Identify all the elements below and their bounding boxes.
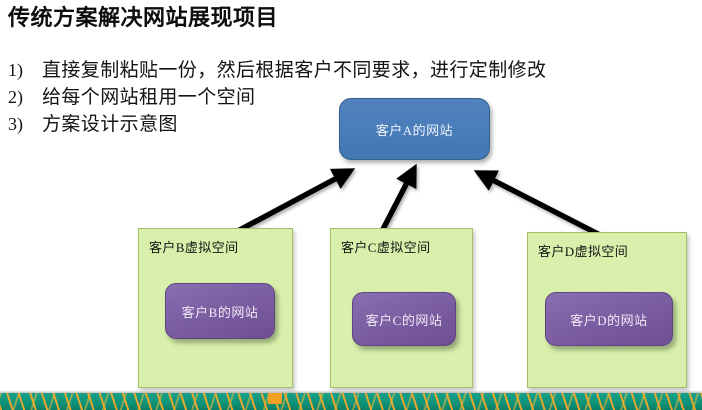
central-node-customer-a[interactable]: 客户A的网站 [339, 98, 490, 160]
virtual-space-label-d: 客户D虚拟空间 [538, 241, 628, 260]
list-item-label: 直接复制粘贴一份，然后根据客户不同要求，进行定制修改 [42, 58, 546, 84]
footer-band-accent [268, 393, 282, 404]
list-item: 1) 直接复制粘贴一份，然后根据客户不同要求，进行定制修改 [8, 57, 668, 84]
list-item-marker: 3) [8, 111, 42, 137]
virtual-space-label-c: 客户C虚拟空间 [341, 237, 430, 256]
site-node-customer-b[interactable]: 客户B的网站 [165, 283, 275, 339]
bullet-list: 1) 直接复制粘贴一份，然后根据客户不同要求，进行定制修改 2) 给每个网站租用… [8, 57, 668, 138]
slide-canvas: 传统方案解决网站展现项目 1) 直接复制粘贴一份，然后根据客户不同要求，进行定制… [0, 0, 702, 410]
arrow-from-b [232, 171, 350, 234]
site-node-customer-d[interactable]: 客户D的网站 [545, 292, 673, 346]
site-node-label-c: 客户C的网站 [366, 310, 443, 329]
list-item: 3) 方案设计示意图 [8, 111, 668, 138]
list-item-label: 方案设计示意图 [42, 112, 178, 138]
list-item-marker: 2) [8, 84, 42, 110]
arrow-from-d [479, 173, 602, 236]
arrow-from-c [381, 169, 414, 233]
footer-decorative-band [0, 393, 702, 410]
site-node-label-b: 客户B的网站 [182, 302, 259, 321]
site-node-label-d: 客户D的网站 [570, 310, 647, 329]
page-title: 传统方案解决网站展现项目 [8, 4, 278, 32]
virtual-space-label-b: 客户B虚拟空间 [149, 237, 238, 256]
list-item-marker: 1) [8, 57, 42, 83]
list-item: 2) 给每个网站租用一个空间 [8, 84, 668, 111]
site-node-customer-c[interactable]: 客户C的网站 [352, 292, 456, 346]
central-node-label: 客户A的网站 [376, 120, 453, 139]
list-item-label: 给每个网站租用一个空间 [42, 85, 255, 111]
